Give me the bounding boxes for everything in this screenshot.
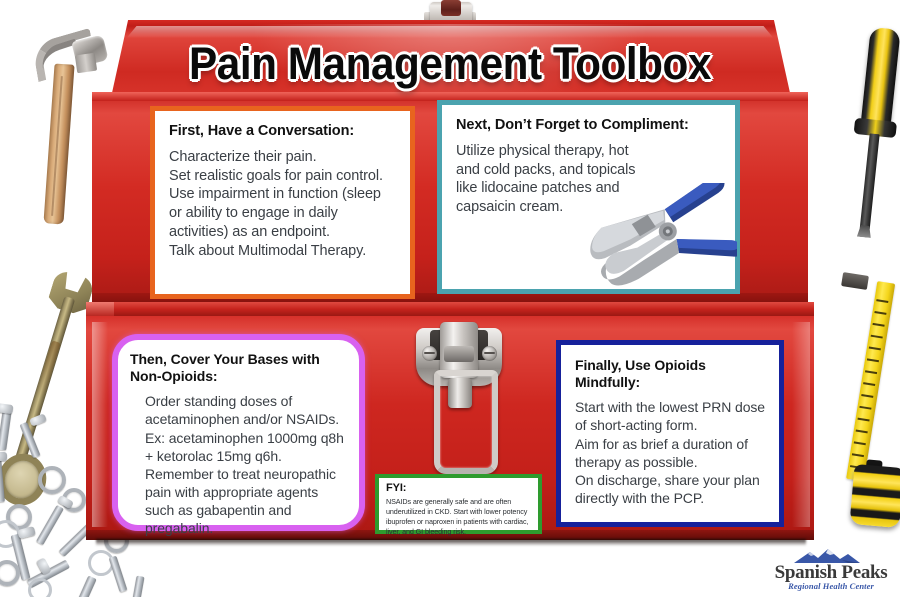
panel-conversation-body: Characterize their pain. Set realistic g…	[169, 148, 396, 261]
panel-non-opioids: Then, Cover Your Bases with Non-Opioids:…	[112, 334, 365, 531]
tape-measure-icon	[830, 270, 900, 520]
toolbox-body-highlight-left	[92, 322, 108, 527]
organization-logo: Spanish Peaks Regional Health Center	[766, 548, 896, 594]
tape-measure-case	[849, 464, 900, 528]
panel-fyi-heading: FYI:	[386, 482, 532, 495]
panel-non-opioids-heading: Then, Cover Your Bases with Non-Opioids:	[130, 351, 347, 385]
toolbox-body-highlight-right	[792, 322, 810, 527]
panel-opioids: Finally, Use Opioids Mindfully: Start wi…	[556, 340, 784, 527]
tape-hook	[841, 272, 869, 290]
latch-screw-right	[482, 346, 497, 361]
panel-compliment-heading: Next, Don’t Forget to Compliment:	[456, 117, 721, 135]
panel-fyi-body: NSAIDs are generally safe and are often …	[386, 497, 532, 537]
panel-opioids-heading: Finally, Use Opioids Mindfully:	[575, 357, 765, 391]
pliers-icon	[577, 183, 737, 291]
tape-blade	[846, 281, 895, 481]
panel-conversation-heading: First, Have a Conversation:	[169, 123, 396, 141]
panel-fyi: FYI: NSAIDs are generally safe and are o…	[375, 474, 542, 534]
latch-screw-left	[422, 346, 437, 361]
latch-knob[interactable]	[448, 378, 472, 408]
toolbox-lid-highlight	[120, 26, 780, 38]
panel-opioids-body: Start with the lowest PRN dose of short-…	[575, 398, 765, 507]
panel-compliment: Next, Don’t Forget to Compliment: Utiliz…	[437, 100, 740, 294]
panel-non-opioids-body: Order standing doses of acetaminophen an…	[145, 392, 347, 538]
logo-tagline: Regional Health Center	[766, 581, 896, 591]
screwdriver-shaft	[860, 133, 880, 230]
panel-conversation: First, Have a Conversation: Characterize…	[150, 106, 415, 299]
poster-canvas: Pain Management Toolbox First, Have a Co…	[0, 0, 900, 597]
page-title: Pain Management Toolbox	[27, 38, 873, 90]
latch-lever-notch	[444, 346, 474, 362]
toolbox-latch[interactable]	[404, 318, 514, 468]
toolbox-handle-grip	[441, 0, 461, 16]
